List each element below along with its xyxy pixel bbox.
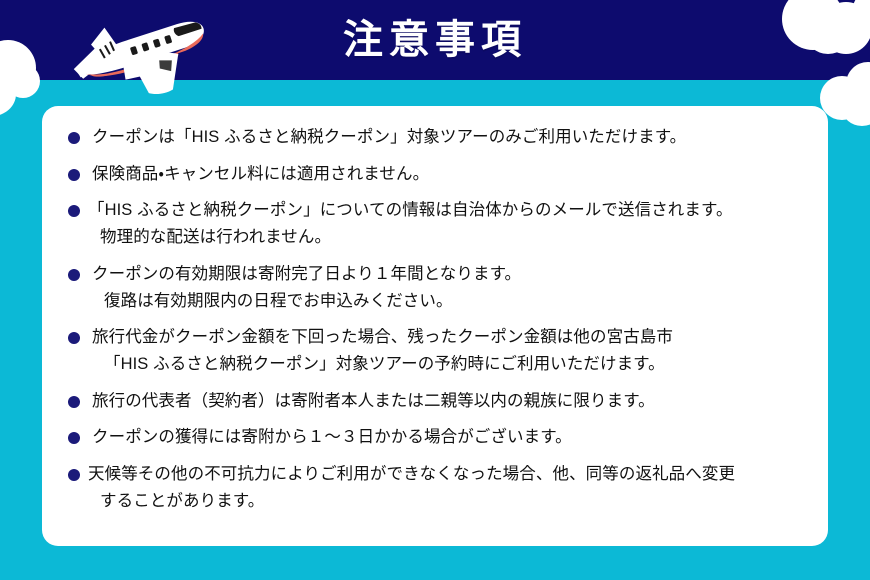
notice-line: クーポンは「HIS ふるさと納税クーポン」対象ツアーのみご利用いただけます。 xyxy=(92,124,802,151)
notice-card: クーポンは「HIS ふるさと納税クーポン」対象ツアーのみご利用いただけます。 保… xyxy=(42,106,828,546)
notice-line: 天候等その他の不可抗力によりご利用ができなくなった場合、他、同等の返礼品へ変更 xyxy=(88,461,802,488)
notice-line: 「HIS ふるさと納税クーポン」についての情報は自治体からのメールで送信されます… xyxy=(88,197,802,224)
notice-line-continued: 「HIS ふるさと納税クーポン」対象ツアーの予約時にご利用いただけます。 xyxy=(92,351,802,378)
notice-line: 旅行代金がクーポン金額を下回った場合、残ったクーポン金額は他の宮古島市 xyxy=(92,324,802,351)
list-item: 保険商品・キャンセル料には適用されません。 xyxy=(66,161,802,188)
notice-poster: 注意事項 クーポンは「HIS ふるさと納税クーポン」対象ツアーのみご利用いただけ… xyxy=(0,0,870,580)
notice-line-continued: 復路は有効期限内の日程でお申込みください。 xyxy=(92,288,802,315)
bullet-icon xyxy=(68,469,80,481)
notice-line: 保険商品・キャンセル料には適用されません。 xyxy=(92,161,802,188)
list-item: 旅行代金がクーポン金額を下回った場合、残ったクーポン金額は他の宮古島市 「HIS… xyxy=(66,324,802,377)
bullet-icon xyxy=(68,169,80,181)
notice-line-continued: することがあります。 xyxy=(88,488,802,515)
page-title: 注意事項 xyxy=(0,0,870,80)
list-item: クーポンの有効期限は寄附完了日より１年間となります。 復路は有効期限内の日程でお… xyxy=(66,261,802,314)
bullet-icon xyxy=(68,205,80,217)
notice-line: クーポンの有効期限は寄附完了日より１年間となります。 xyxy=(92,261,802,288)
notice-line: 旅行の代表者（契約者）は寄附者本人または二親等以内の親族に限ります。 xyxy=(92,388,802,415)
notice-line: クーポンの獲得には寄附から１〜３日かかる場合がございます。 xyxy=(92,424,802,451)
list-item: クーポンの獲得には寄附から１〜３日かかる場合がございます。 xyxy=(66,424,802,451)
bullet-icon xyxy=(68,269,80,281)
bullet-icon xyxy=(68,332,80,344)
list-item: 旅行の代表者（契約者）は寄附者本人または二親等以内の親族に限ります。 xyxy=(66,388,802,415)
notice-line-continued: 物理的な配送は行われません。 xyxy=(88,224,802,251)
list-item: 天候等その他の不可抗力によりご利用ができなくなった場合、他、同等の返礼品へ変更 … xyxy=(66,461,802,514)
bullet-icon xyxy=(68,396,80,408)
notice-list: クーポンは「HIS ふるさと納税クーポン」対象ツアーのみご利用いただけます。 保… xyxy=(66,124,802,515)
list-item: クーポンは「HIS ふるさと納税クーポン」対象ツアーのみご利用いただけます。 xyxy=(66,124,802,151)
bullet-icon xyxy=(68,432,80,444)
list-item: 「HIS ふるさと納税クーポン」についての情報は自治体からのメールで送信されます… xyxy=(66,197,802,250)
bullet-icon xyxy=(68,132,80,144)
